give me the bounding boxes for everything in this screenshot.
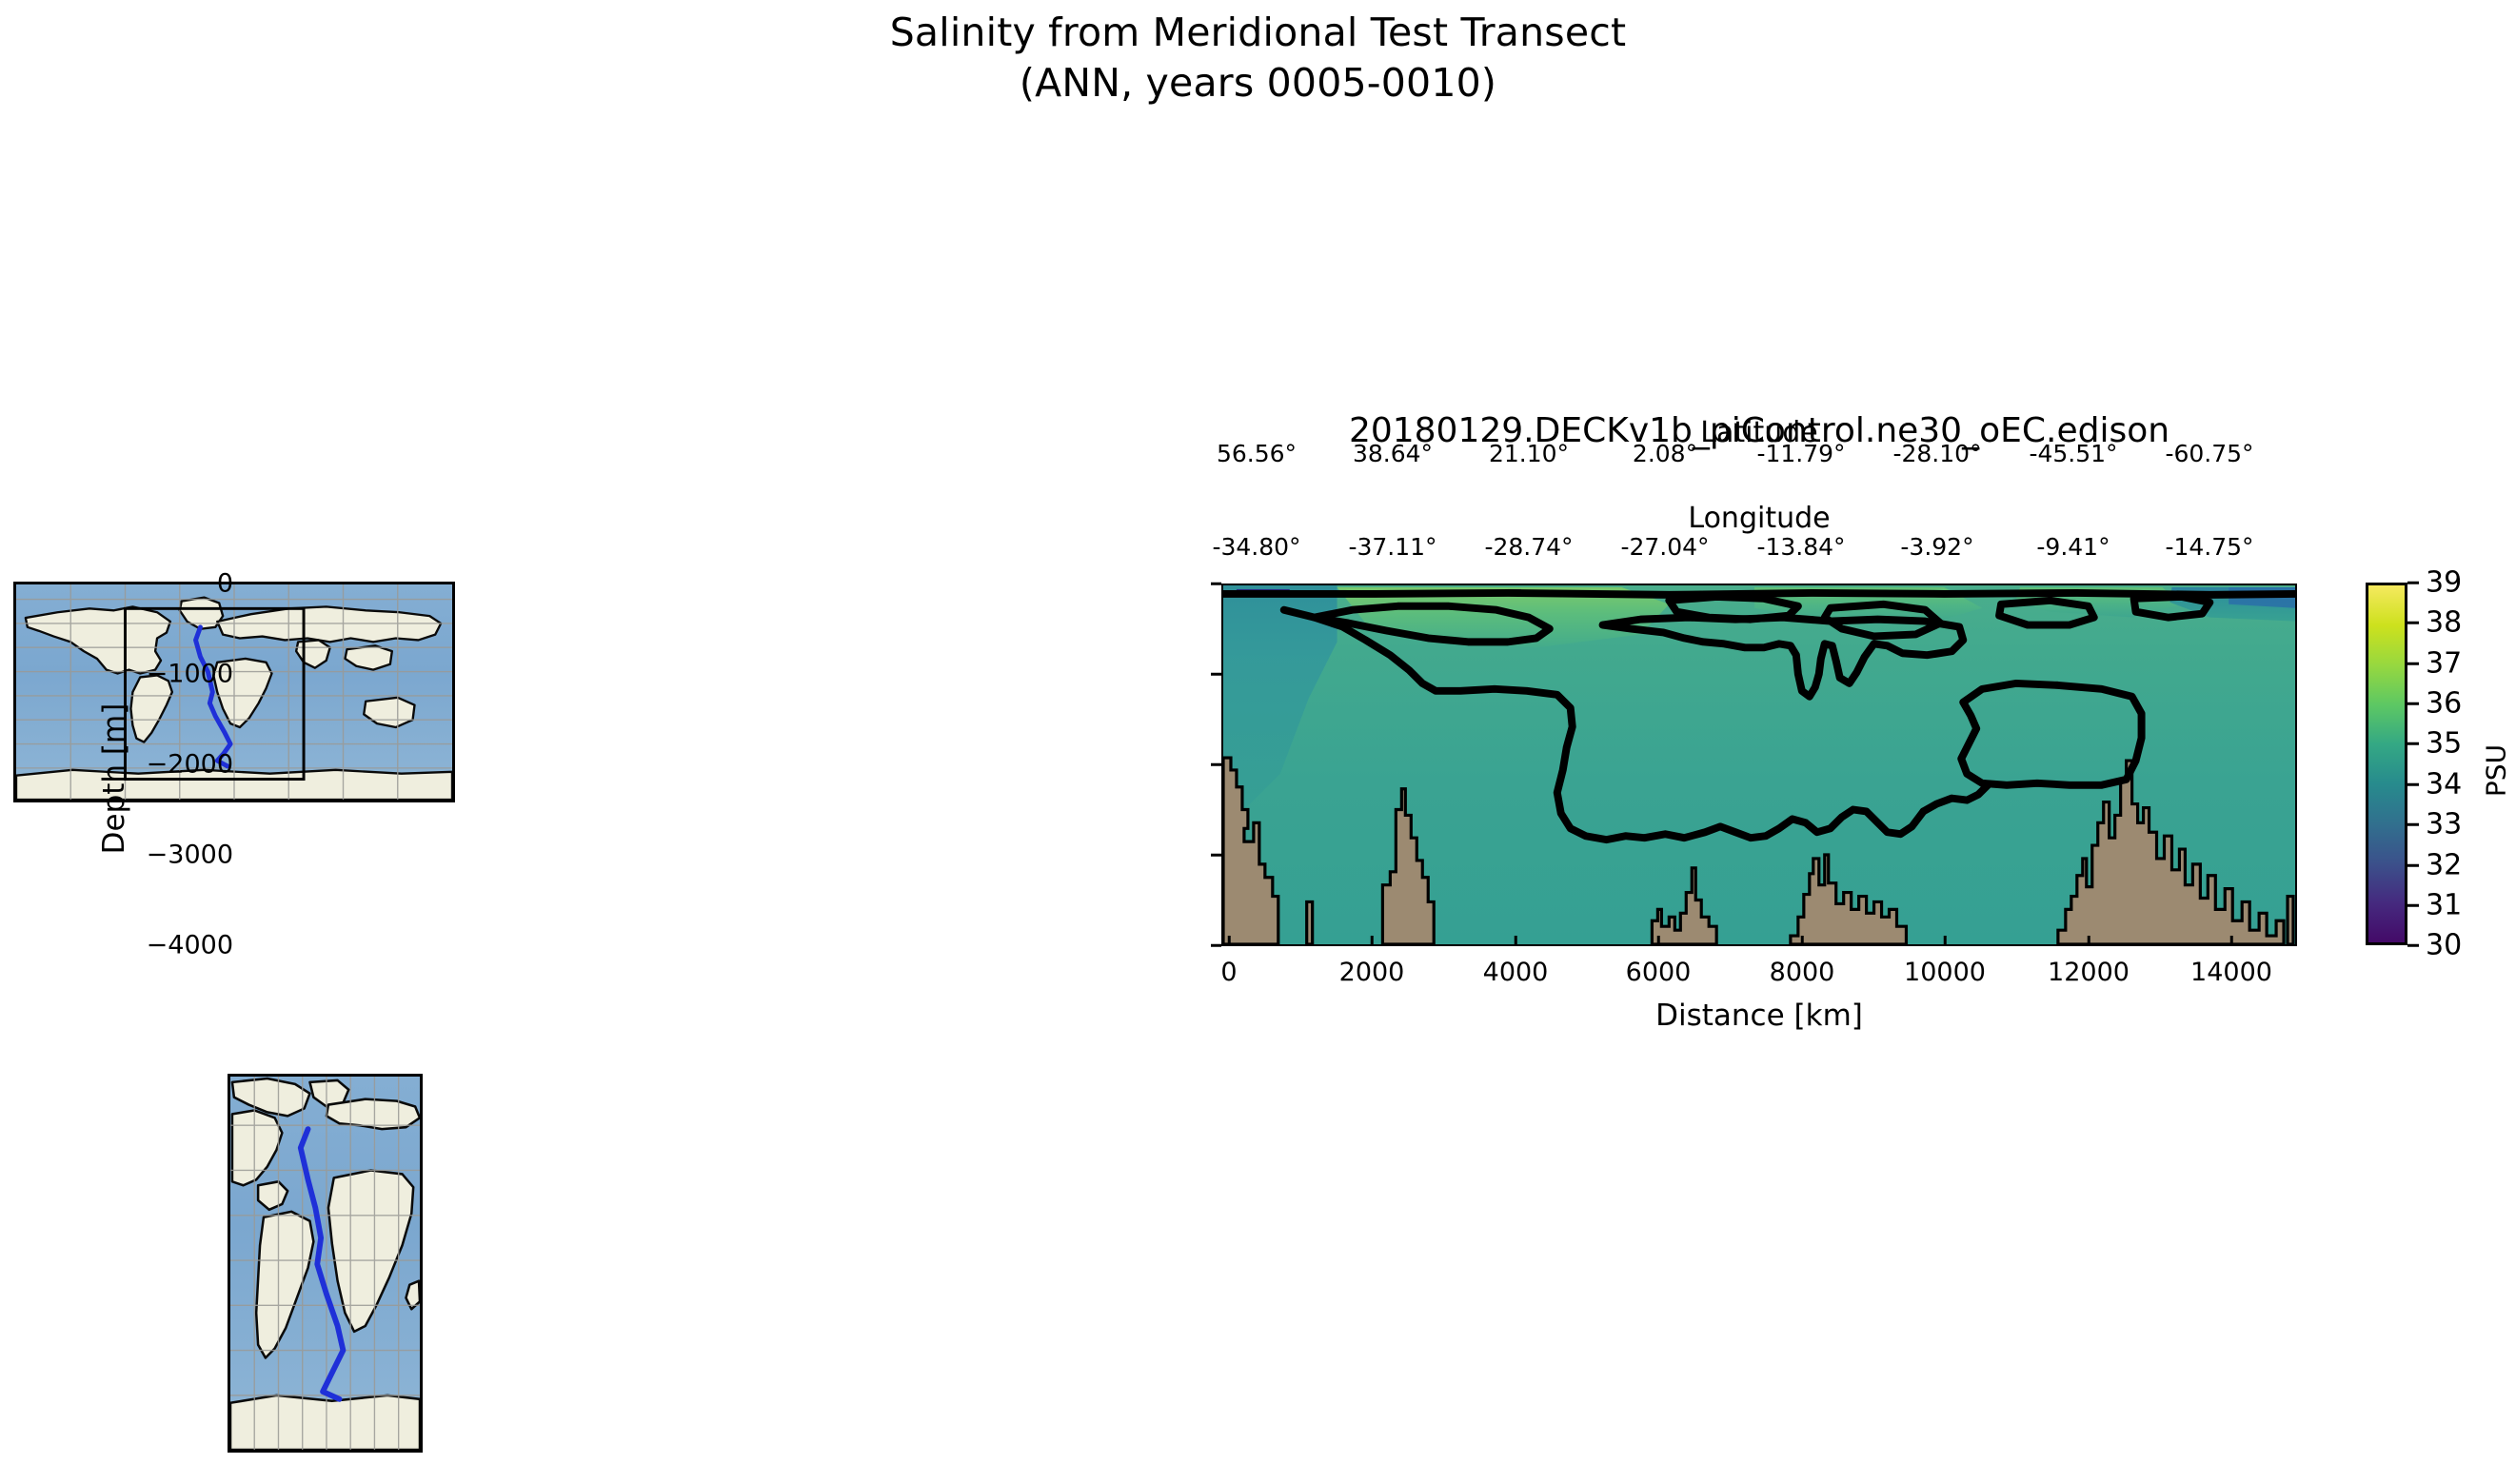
lat-tick-7: -60.75°	[2165, 440, 2253, 467]
y-tickmark-2	[1211, 763, 1221, 766]
distance-axis-label: Distance [km]	[1221, 999, 2297, 1033]
lon-tick-7: -14.75°	[2165, 533, 2253, 561]
x-tick-label-6: 12000	[2048, 958, 2130, 987]
lat-tick-5: -28.10°	[1892, 440, 1981, 467]
lon-tick-4: -13.84°	[1756, 533, 1845, 561]
lat-tick-2: 21.10°	[1489, 440, 1569, 467]
colorbar-tickmark-31	[2407, 904, 2419, 907]
x-tick-label-7: 14000	[2190, 958, 2272, 987]
y-tickmark-4	[1211, 944, 1221, 947]
global-overview-map[interactable]	[13, 582, 455, 802]
colorbar-tickmark-39	[2407, 582, 2419, 584]
x-tickmark-1	[1371, 936, 1374, 946]
y-tick-label-3: −3000	[147, 841, 233, 870]
colorbar-label-34: 34	[2426, 768, 2462, 801]
colorbar-tickmark-38	[2407, 622, 2419, 624]
colorbar-tickmark-32	[2407, 864, 2419, 867]
y-tick-label-1: −1000	[147, 660, 233, 689]
y-tickmark-3	[1211, 854, 1221, 857]
lon-tick-0: -34.80°	[1212, 533, 1300, 561]
colorbar-unit-label: PSU	[2481, 628, 2512, 914]
region-map-graphics	[230, 1077, 420, 1450]
colorbar-tickmark-37	[2407, 663, 2419, 665]
x-tickmark-5	[1944, 936, 1947, 946]
x-tick-label-5: 10000	[1904, 958, 1986, 987]
x-tickmark-6	[2088, 936, 2090, 946]
x-tick-label-2: 4000	[1483, 958, 1549, 987]
colorbar-tickmark-35	[2407, 742, 2419, 745]
x-tickmark-0	[1228, 936, 1231, 946]
lat-tick-4: -11.79°	[1756, 440, 1845, 467]
x-tickmark-7	[2230, 936, 2233, 946]
colorbar-tickmark-33	[2407, 823, 2419, 826]
y-tick-label-0: 0	[217, 569, 233, 599]
colorbar-tickmark-30	[2407, 944, 2419, 947]
y-tickmark-0	[1211, 583, 1221, 585]
lat-tick-0: 56.56°	[1217, 440, 1297, 467]
figure-title-line2: (ANN, years 0005-0010)	[0, 58, 2516, 109]
colorbar-label-39: 39	[2426, 566, 2462, 600]
lon-tick-3: -27.04°	[1620, 533, 1709, 561]
colorbar-tickmark-36	[2407, 702, 2419, 705]
lat-tick-3: 2.08°	[1633, 440, 1697, 467]
x-tick-label-4: 8000	[1770, 958, 1835, 987]
x-tick-label-3: 6000	[1626, 958, 1692, 987]
x-tickmark-4	[1801, 936, 1804, 946]
x-tickmark-3	[1657, 936, 1660, 946]
x-tick-label-1: 2000	[1339, 958, 1405, 987]
colorbar-label-37: 37	[2426, 647, 2462, 681]
global-map-graphics	[16, 584, 452, 800]
colorbar[interactable]	[2366, 583, 2407, 945]
y-tickmark-1	[1211, 673, 1221, 676]
depth-axis-label: Depth [m]	[97, 588, 131, 969]
colorbar-tickmark-34	[2407, 783, 2419, 786]
lon-tick-5: -3.92°	[1900, 533, 1973, 561]
colorbar-label-38: 38	[2426, 606, 2462, 640]
y-tick-label-4: −4000	[147, 931, 233, 960]
colorbar-label-33: 33	[2426, 808, 2462, 841]
colorbar-label-30: 30	[2426, 929, 2462, 962]
lat-tick-6: -45.51°	[2029, 440, 2117, 467]
x-tickmark-2	[1515, 936, 1517, 946]
atlantic-region-map[interactable]	[228, 1074, 423, 1453]
colorbar-label-36: 36	[2426, 687, 2462, 721]
transect-field-graphics	[1223, 585, 2295, 944]
lon-tick-1: -37.11°	[1348, 533, 1436, 561]
x-tick-label-0: 0	[1220, 958, 1237, 987]
y-tick-label-2: −2000	[147, 750, 233, 780]
lon-tick-2: -28.74°	[1484, 533, 1573, 561]
colorbar-label-32: 32	[2426, 849, 2462, 882]
longitude-axis-label: Longitude	[1221, 502, 2297, 535]
colorbar-label-31: 31	[2426, 889, 2462, 922]
lon-tick-6: -9.41°	[2036, 533, 2110, 561]
page-title: Salinity from Meridional Test Transect (…	[0, 8, 2516, 109]
salinity-transect-plot[interactable]	[1221, 584, 2297, 946]
colorbar-label-35: 35	[2426, 727, 2462, 761]
figure-title-line1: Salinity from Meridional Test Transect	[0, 8, 2516, 58]
lat-tick-1: 38.64°	[1353, 440, 1433, 467]
